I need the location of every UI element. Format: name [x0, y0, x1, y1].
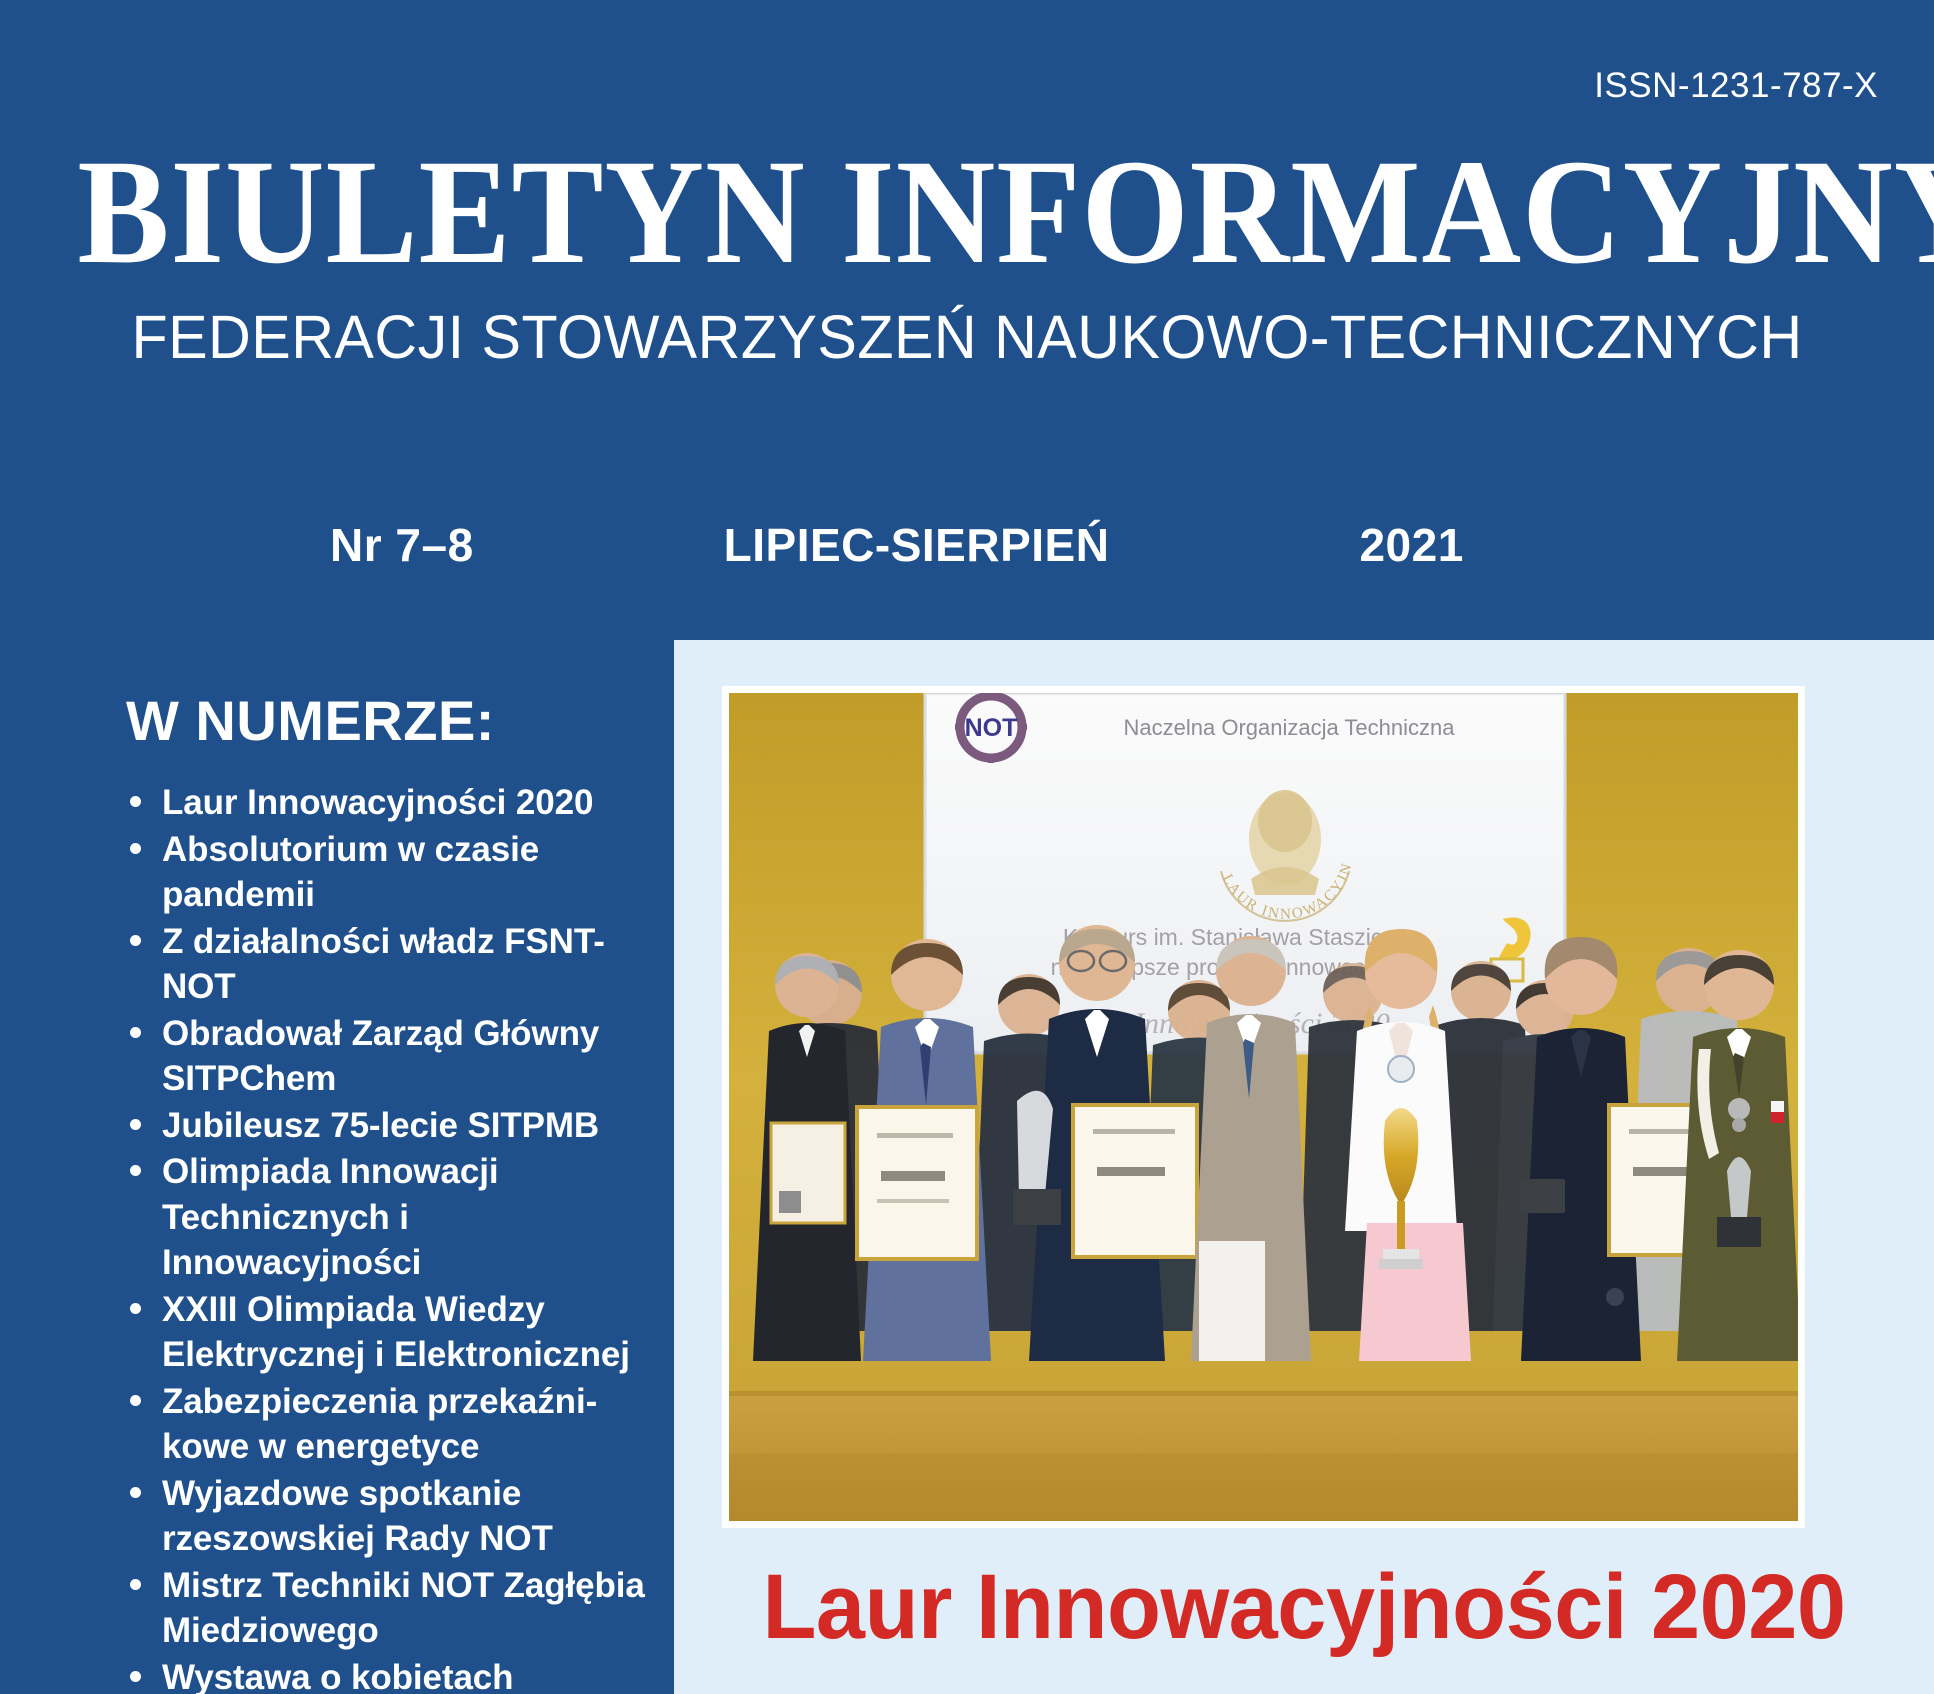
bullet-icon	[130, 1303, 141, 1314]
list-item[interactable]: Z działalności władz FSNT-NOT	[126, 919, 656, 1010]
list-item-label: Olimpiada Innowacji Technicznych i Innow…	[162, 1152, 499, 1282]
contents-heading: W NUMERZE:	[126, 688, 495, 753]
list-item[interactable]: Olimpiada Innowacji Technicznych i Innow…	[126, 1149, 656, 1286]
list-item[interactable]: Jubileusz 75-lecie SITPMB	[126, 1103, 656, 1149]
bullet-icon	[130, 1027, 141, 1038]
contents-column: W NUMERZE: Laur Innowacyjności 2020 Abso…	[0, 640, 674, 1694]
bullet-icon	[130, 935, 141, 946]
magazine-cover: ISSN-1231-787-X BIULETYN INFORMACYJNY FE…	[0, 0, 1934, 1694]
list-item-label: Z działalności władz FSNT-NOT	[162, 922, 605, 1007]
award-ceremony-scene: NOT Naczelna Organizacja Techniczna LAUR…	[729, 693, 1798, 1521]
cover-headline: Laur Innowacyjności 2020	[699, 1555, 1909, 1660]
masthead: BIULETYN INFORMACYJNY FEDERACJI STOWARZY…	[0, 140, 1934, 372]
list-item-label: Obradował Zarząd Główny SITPChem	[162, 1014, 599, 1099]
issue-line: Nr 7–8 LIPIEC-SIERPIEŃ 2021	[330, 518, 1610, 572]
list-item[interactable]: Mistrz Techniki NOT Zagłębia Miedziowego	[126, 1563, 656, 1654]
cover-photo-frame: NOT Naczelna Organizacja Techniczna LAUR…	[722, 686, 1805, 1528]
list-item-label: Wyjazdowe spotkanie rzeszowskiej Rady NO…	[162, 1474, 553, 1559]
bullet-icon	[130, 1165, 141, 1176]
list-item-label: Mistrz Techniki NOT Zagłębia Miedziowego	[162, 1566, 645, 1651]
list-item[interactable]: Obradował Zarząd Główny SITPChem	[126, 1011, 656, 1102]
issn-number: ISSN-1231-787-X	[1594, 66, 1878, 106]
bullet-icon	[130, 1487, 141, 1498]
list-item[interactable]: Zabezpieczenia przekaźni-kowe w energety…	[126, 1379, 656, 1470]
cover-photo-panel: NOT Naczelna Organizacja Techniczna LAUR…	[674, 640, 1934, 1694]
svg-text:NOT: NOT	[965, 714, 1018, 742]
issue-number: Nr 7–8	[330, 518, 474, 572]
contents-list: Laur Innowacyjności 2020 Absolutorium w …	[126, 780, 656, 1694]
magazine-title: BIULETYN INFORMACYJNY	[77, 140, 1856, 286]
cover-photo: NOT Naczelna Organizacja Techniczna LAUR…	[729, 693, 1798, 1521]
list-item-label: Laur Innowacyjności 2020	[162, 783, 593, 822]
bullet-icon	[130, 1395, 141, 1406]
list-item[interactable]: Absolutorium w czasie pandemii	[126, 827, 656, 918]
list-item-label: Absolutorium w czasie pandemii	[162, 830, 539, 915]
slide-organization: Naczelna Organizacja Techniczna	[1124, 715, 1456, 740]
bullet-icon	[130, 1579, 141, 1590]
bullet-icon	[130, 1119, 141, 1130]
magazine-subtitle: FEDERACJI STOWARZYSZEŃ NAUKOWO-TECHNICZN…	[29, 302, 1905, 372]
issue-year: 2021	[1359, 518, 1463, 572]
bullet-icon	[130, 1671, 141, 1682]
list-item[interactable]: Laur Innowacyjności 2020	[126, 780, 656, 826]
list-item[interactable]: XXIII Olimpiada Wiedzy Elektrycznej i El…	[126, 1287, 656, 1378]
bullet-icon	[130, 796, 141, 807]
list-item[interactable]: Wystawa o kobietach	[126, 1655, 656, 1694]
list-item[interactable]: Wyjazdowe spotkanie rzeszowskiej Rady NO…	[126, 1471, 656, 1562]
list-item-label: Zabezpieczenia przekaźni-kowe w energety…	[162, 1382, 597, 1467]
issue-month: LIPIEC-SIERPIEŃ	[724, 518, 1110, 572]
bullet-icon	[130, 843, 141, 854]
list-item-label: Jubileusz 75-lecie SITPMB	[162, 1106, 599, 1145]
list-item-label: Wystawa o kobietach	[162, 1658, 513, 1694]
list-item-label: XXIII Olimpiada Wiedzy Elektrycznej i El…	[162, 1290, 630, 1375]
